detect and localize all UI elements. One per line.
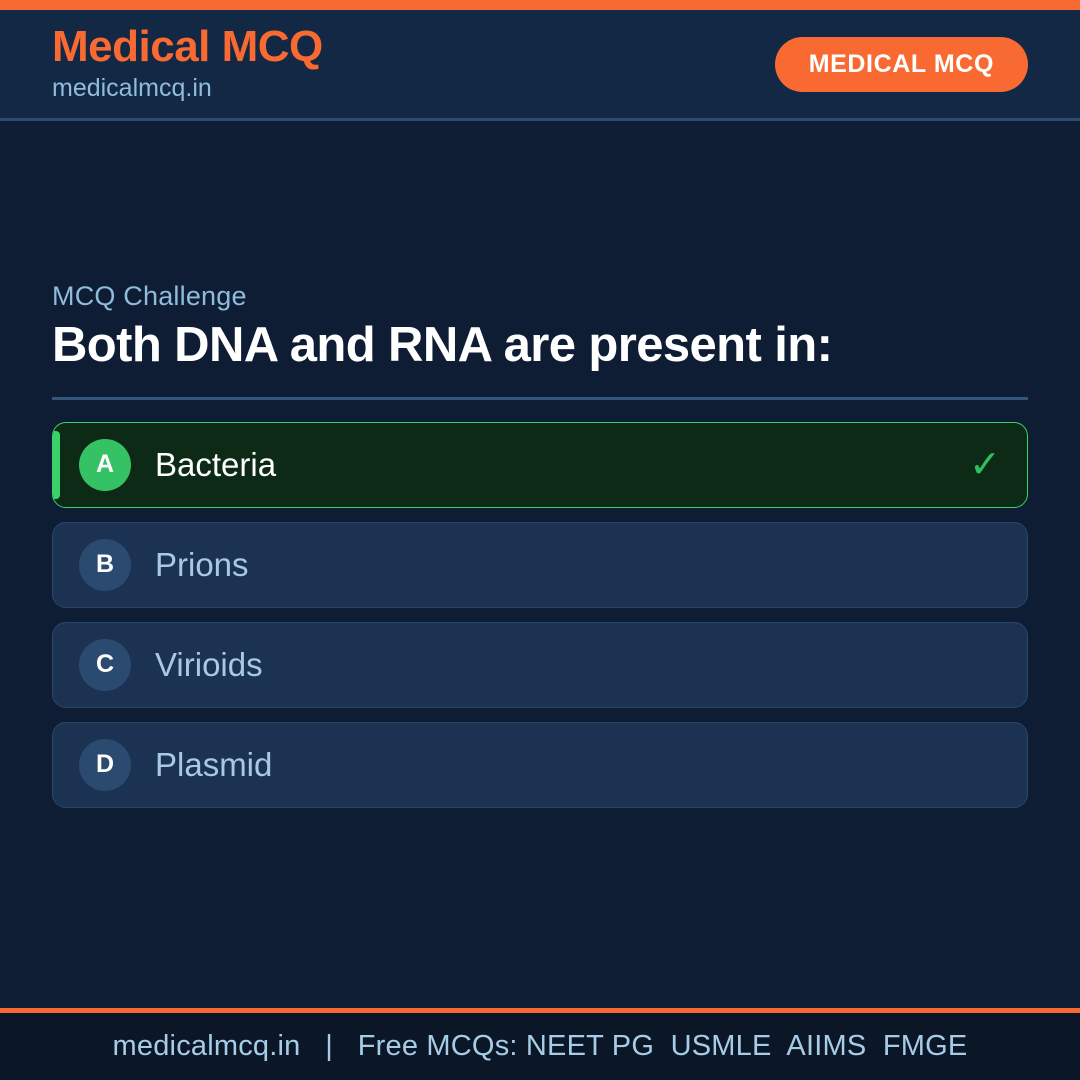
correct-accent-bar: [53, 431, 60, 499]
option-b-letter: B: [79, 539, 131, 591]
option-b[interactable]: B Prions: [52, 522, 1028, 608]
option-a-label: Bacteria: [155, 448, 276, 481]
option-a-letter: A: [79, 439, 131, 491]
eyebrow-label: MCQ Challenge: [52, 281, 1028, 312]
footer-text: medicalmcq.in | Free MCQs: NEET PG USMLE…: [113, 1030, 968, 1063]
option-c[interactable]: C Virioids: [52, 622, 1028, 708]
check-icon: ✓: [969, 446, 1001, 484]
option-d-letter: D: [79, 739, 131, 791]
brand: Medical MCQ medicalmcq.in: [52, 24, 323, 104]
option-b-label: Prions: [155, 548, 249, 581]
mcq-card: Medical MCQ medicalmcq.in MEDICAL MCQ MC…: [0, 0, 1080, 1080]
brand-subtitle: medicalmcq.in: [52, 73, 323, 104]
question-text: Both DNA and RNA are present in:: [52, 318, 1028, 373]
top-accent-bar: [0, 0, 1080, 10]
option-a[interactable]: A Bacteria ✓: [52, 422, 1028, 508]
footer: medicalmcq.in | Free MCQs: NEET PG USMLE…: [0, 1008, 1080, 1080]
header-badge: MEDICAL MCQ: [775, 37, 1028, 92]
option-d[interactable]: D Plasmid: [52, 722, 1028, 808]
option-c-letter: C: [79, 639, 131, 691]
brand-title: Medical MCQ: [52, 24, 323, 71]
options-list: A Bacteria ✓ B Prions C Virioids D Plasm…: [52, 422, 1028, 808]
question-divider: [52, 397, 1028, 400]
header: Medical MCQ medicalmcq.in MEDICAL MCQ: [0, 10, 1080, 121]
option-d-label: Plasmid: [155, 748, 272, 781]
option-c-label: Virioids: [155, 648, 263, 681]
main-content: MCQ Challenge Both DNA and RNA are prese…: [0, 121, 1080, 1008]
